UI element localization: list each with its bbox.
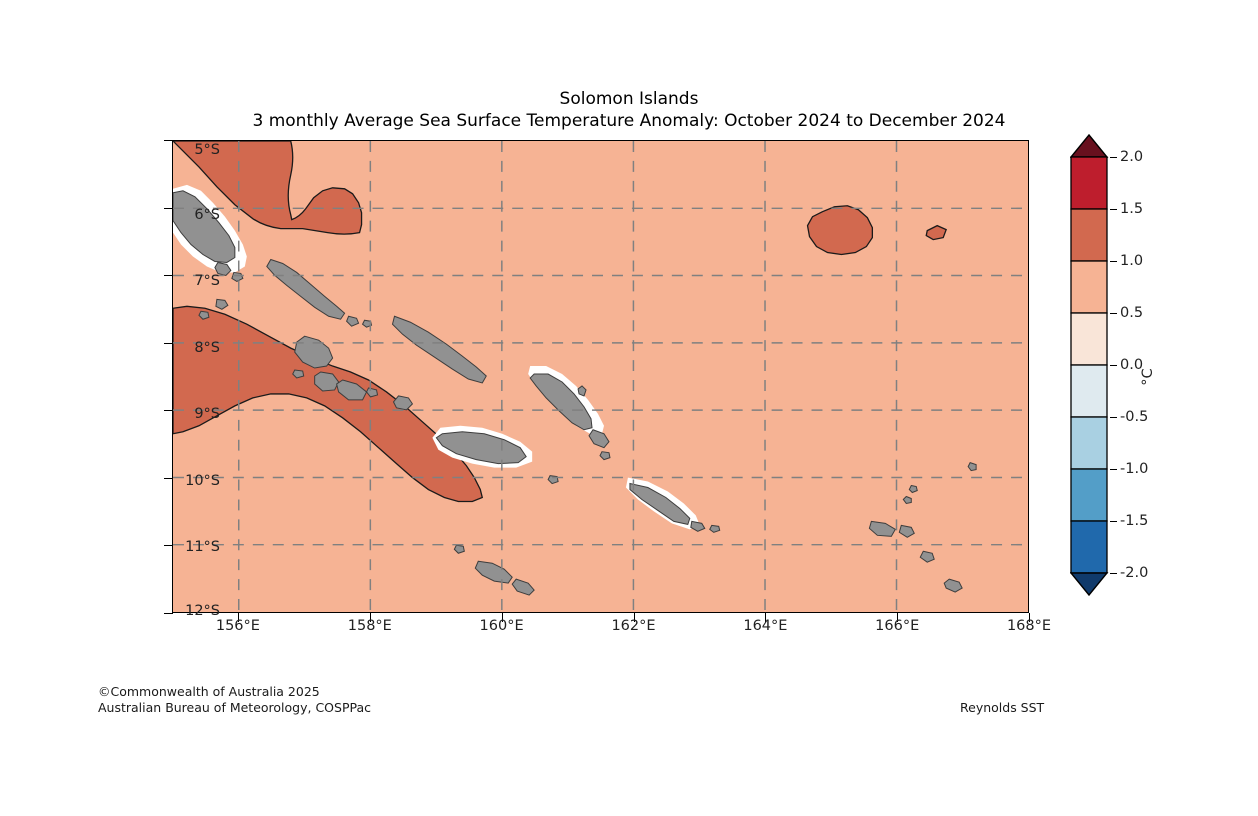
cb-tick-1_0 (1110, 261, 1117, 262)
colorbar-unit-label: °C (1140, 368, 1156, 385)
colorbar-band-1_5-2_0 (1071, 157, 1107, 209)
cb-label-neg1_0: -1.0 (1120, 461, 1148, 477)
cb-tick-2_0 (1110, 157, 1117, 158)
cb-label-0_5: 0.5 (1120, 305, 1143, 321)
y-label-9S: 9°S (194, 406, 220, 422)
y-tick-8S (164, 343, 173, 344)
y-label-12S: 12°S (185, 603, 220, 619)
colorbar: 2.0 1.5 1.0 0.5 0.0 -0.5 -1.0 -1.5 -2.0 (1070, 133, 1118, 627)
colorbar-graphic (1070, 133, 1118, 627)
y-tick-12S (164, 613, 173, 614)
map-plot-area (172, 140, 1029, 613)
cb-tick-neg0_5 (1110, 417, 1117, 418)
cb-label-neg1_5: -1.5 (1120, 513, 1148, 529)
cb-tick-neg1_5 (1110, 521, 1117, 522)
y-label-8S: 8°S (194, 340, 220, 356)
x-label-156E: 156°E (216, 618, 260, 634)
colorbar-extend-under (1071, 573, 1107, 595)
y-label-6S: 6°S (194, 207, 220, 223)
figure-title: Solomon Islands 3 monthly Average Sea Su… (0, 88, 1258, 133)
title-line-region: Solomon Islands (0, 88, 1258, 110)
cb-label-1_5: 1.5 (1120, 201, 1143, 217)
colorbar-band-0_5-1_0 (1071, 261, 1107, 313)
title-line-variable: 3 monthly Average Sea Surface Temperatur… (0, 110, 1258, 133)
colorbar-band-neg1_5-neg1_0 (1071, 469, 1107, 521)
y-tick-11S (164, 545, 173, 546)
footer-data-source: Reynolds SST (960, 700, 1044, 715)
y-label-11S: 11°S (185, 539, 220, 555)
cb-tick-neg1_0 (1110, 469, 1117, 470)
footer-attribution: ©Commonwealth of Australia 2025 Australi… (98, 684, 371, 716)
x-label-162E: 162°E (611, 618, 655, 634)
colorbar-band-neg2_0-neg1_5 (1071, 521, 1107, 573)
figure-canvas: Solomon Islands 3 monthly Average Sea Su… (0, 0, 1258, 816)
y-tick-10S (164, 478, 173, 479)
cb-tick-0_5 (1110, 313, 1117, 314)
sst-anomaly-map (173, 141, 1028, 612)
cb-label-1_0: 1.0 (1120, 253, 1143, 269)
x-label-164E: 164°E (743, 618, 787, 634)
colorbar-band-neg1_0-neg0_5 (1071, 417, 1107, 469)
colorbar-band-1_0-1_5 (1071, 209, 1107, 261)
x-label-168E: 168°E (1007, 618, 1051, 634)
y-label-10S: 10°S (185, 473, 220, 489)
cb-tick-neg2_0 (1110, 573, 1117, 574)
y-tick-6S (164, 208, 173, 209)
cb-label-neg2_0: -2.0 (1120, 565, 1148, 581)
cb-label-neg0_5: -0.5 (1120, 409, 1148, 425)
colorbar-band-0_0-0_5 (1071, 313, 1107, 365)
y-tick-9S (164, 410, 173, 411)
colorbar-band-neg0_5-0_0 (1071, 365, 1107, 417)
x-label-158E: 158°E (348, 618, 392, 634)
y-label-7S: 7°S (194, 273, 220, 289)
cb-tick-0_0 (1110, 365, 1117, 366)
y-tick-7S (164, 275, 173, 276)
colorbar-extend-over (1071, 135, 1107, 157)
footer-agency: Australian Bureau of Meteorology, COSPPa… (98, 700, 371, 716)
footer-copyright: ©Commonwealth of Australia 2025 (98, 684, 371, 700)
cb-label-2_0: 2.0 (1120, 149, 1143, 165)
x-label-160E: 160°E (480, 618, 524, 634)
y-label-5S: 5°S (194, 142, 220, 158)
cb-tick-1_5 (1110, 209, 1117, 210)
y-tick-5S (164, 140, 173, 141)
x-label-166E: 166°E (875, 618, 919, 634)
